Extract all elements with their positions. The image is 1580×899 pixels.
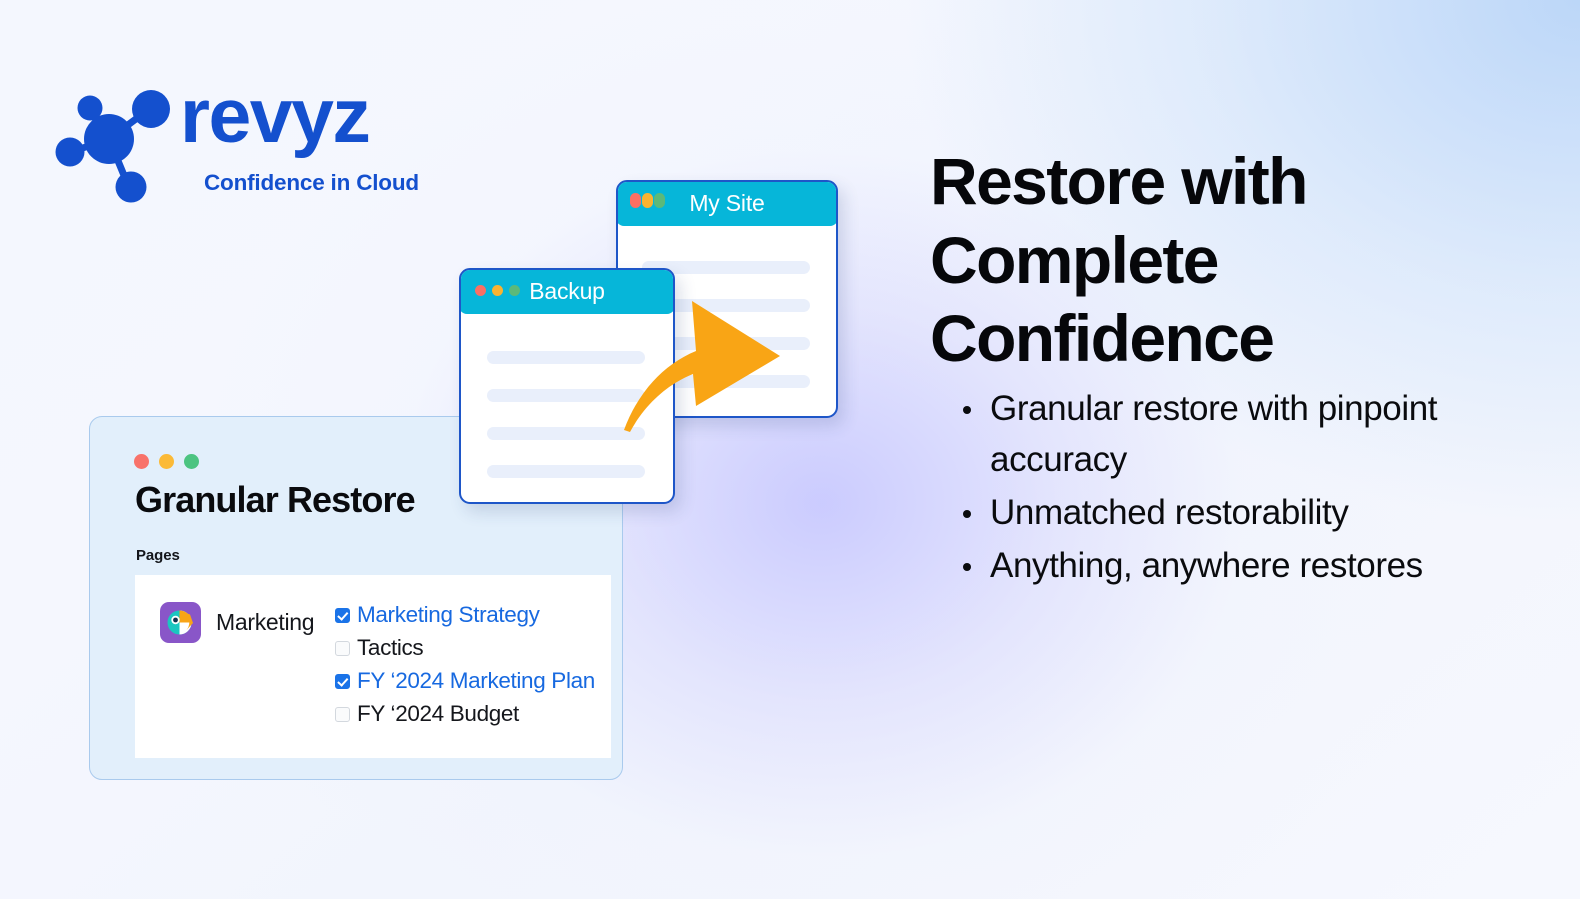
marketing-banner: revyz Confidence in Cloud Restore with C… (0, 0, 1580, 899)
confluence-space-avatar-icon (160, 602, 201, 643)
content-line (487, 465, 645, 478)
list-item[interactable]: FY ‘2024 Marketing Plan (335, 665, 605, 698)
network-nodes-icon (52, 76, 182, 206)
brand-logo: revyz Confidence in Cloud (52, 72, 452, 212)
maximize-dot-icon[interactable] (654, 193, 665, 208)
bullet-dot-icon (963, 406, 971, 414)
page-label: Tactics (357, 637, 423, 660)
content-line (487, 427, 645, 440)
page-checkbox-list: Marketing Strategy Tactics FY ‘2024 Mark… (335, 599, 605, 731)
page-title: Restore with Complete Confidence (930, 142, 1490, 378)
space-row[interactable]: Marketing (160, 602, 314, 643)
close-dot-icon[interactable] (475, 285, 486, 296)
brand-wordmark: revyz (180, 78, 369, 155)
benefit-text: Granular restore with pinpoint accuracy (990, 389, 1437, 479)
list-item[interactable]: Marketing Strategy (335, 599, 605, 632)
minimize-dot-icon[interactable] (492, 285, 503, 296)
maximize-dot-icon[interactable] (509, 285, 520, 296)
window-controls (475, 285, 520, 296)
card-title: Granular Restore (135, 479, 415, 521)
list-item[interactable]: FY ‘2024 Budget (335, 698, 605, 731)
page-label: FY ‘2024 Budget (357, 703, 519, 726)
benefit-text: Anything, anywhere restores (990, 546, 1423, 585)
list-item: Granular restore with pinpoint accuracy (952, 383, 1482, 485)
checkbox-checked-icon[interactable] (335, 674, 350, 689)
window-title-bar: Backup (459, 268, 675, 314)
list-item: Unmatched restorability (952, 487, 1482, 538)
minimize-dot-icon[interactable] (642, 193, 653, 208)
close-dot-icon[interactable] (630, 193, 641, 208)
window-controls (630, 193, 665, 208)
window-controls (134, 454, 199, 469)
space-name: Marketing (216, 609, 314, 636)
page-label: FY ‘2024 Marketing Plan (357, 670, 595, 693)
content-line (487, 389, 645, 402)
checkbox-unchecked-icon[interactable] (335, 707, 350, 722)
pages-section-label: Pages (136, 547, 180, 564)
content-line (487, 351, 645, 364)
window-title-bar: My Site (616, 180, 838, 226)
checkbox-checked-icon[interactable] (335, 608, 350, 623)
bullet-dot-icon (963, 510, 971, 518)
checkbox-unchecked-icon[interactable] (335, 641, 350, 656)
backup-window: Backup (459, 268, 675, 504)
close-dot-icon[interactable] (134, 454, 149, 469)
brand-tagline: Confidence in Cloud (204, 172, 419, 195)
list-item[interactable]: Tactics (335, 632, 605, 665)
list-item: Anything, anywhere restores (952, 540, 1482, 591)
bullet-dot-icon (963, 563, 971, 571)
minimize-dot-icon[interactable] (159, 454, 174, 469)
benefits-list: Granular restore with pinpoint accuracy … (952, 383, 1482, 593)
benefit-text: Unmatched restorability (990, 493, 1348, 532)
maximize-dot-icon[interactable] (184, 454, 199, 469)
page-label: Marketing Strategy (357, 604, 540, 627)
pages-panel: Marketing Marketing Strategy Tactics FY … (135, 575, 611, 758)
